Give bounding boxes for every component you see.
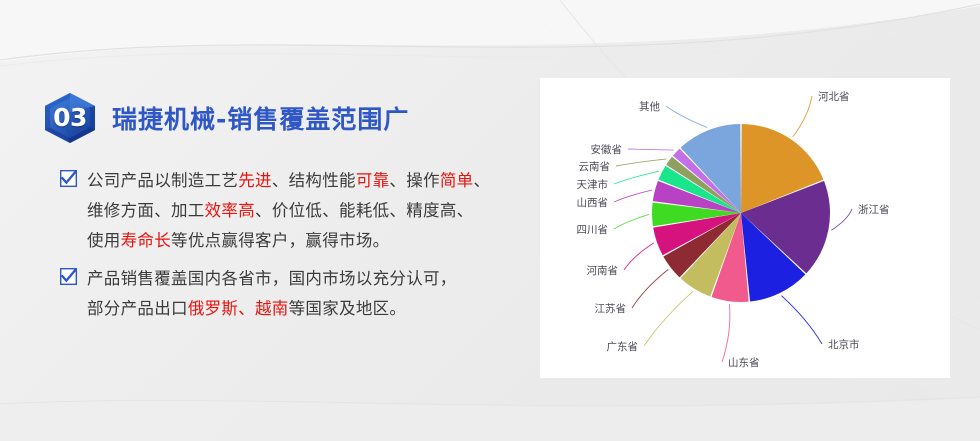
bullet-text-block: 公司产品以制造工艺先进、结构性能可靠、操作简单、 维修方面、加工效率高、价位低、… (87, 166, 490, 256)
pie-leader-line (624, 243, 654, 270)
left-content-column: 03 瑞捷机械-销售覆盖范围广 公司产品以制造工艺先进、结构性能可靠、操作简单、… (0, 0, 540, 441)
pie-slice-label: 北京市 (828, 338, 860, 351)
pie-slice-label: 山西省 (577, 196, 609, 209)
check-box-icon (60, 170, 77, 187)
check-box-icon (60, 268, 77, 285)
pie-leader-line (614, 214, 649, 229)
pie-chart-card: 河北省浙江省北京市山东省广东省江苏省河南省四川省山西省天津市云南省安徽省其他 (540, 78, 950, 378)
pie-slice-label: 浙江省 (858, 203, 890, 216)
pie-leader-line (644, 291, 693, 346)
pie-leader-line (614, 190, 652, 202)
pie-leader-line (722, 304, 730, 362)
pie-leader-line (628, 149, 674, 150)
pie-slices-group (652, 124, 830, 302)
bullet-line: 部分产品出口俄罗斯、越南等国家及地区。 (87, 294, 457, 324)
bullet-line: 使用寿命长等优点赢得客户，赢得市场。 (87, 226, 490, 256)
bullet-line: 公司产品以制造工艺先进、结构性能可靠、操作简单、 (87, 166, 490, 196)
pie-leader-line (831, 209, 852, 230)
list-item: 产品销售覆盖国内各省市，国内市场以充分认可， 部分产品出口俄罗斯、越南等国家及地… (60, 264, 540, 324)
slide-canvas: 03 瑞捷机械-销售覆盖范围广 公司产品以制造工艺先进、结构性能可靠、操作简单、… (0, 0, 980, 441)
pie-leader-line (793, 96, 812, 137)
list-item: 公司产品以制造工艺先进、结构性能可靠、操作简单、 维修方面、加工效率高、价位低、… (60, 166, 540, 256)
pie-slice-label: 山东省 (728, 356, 760, 369)
pie-leader-line (781, 296, 822, 344)
section-title-text: 瑞捷机械-销售覆盖范围广 (112, 100, 409, 136)
bullet-line: 产品销售覆盖国内各省市，国内市场以充分认可， (87, 264, 457, 294)
bullet-list: 公司产品以制造工艺先进、结构性能可靠、操作简单、 维修方面、加工效率高、价位低、… (60, 166, 540, 332)
pie-slice-label: 河南省 (587, 264, 619, 277)
pie-leader-line (614, 171, 659, 184)
pie-slice-label: 广东省 (607, 340, 639, 353)
pie-slice-label: 江苏省 (595, 302, 627, 315)
pie-leader-line (632, 269, 668, 308)
section-number-text: 03 (42, 92, 98, 144)
sales-coverage-pie-chart: 河北省浙江省北京市山东省广东省江苏省河南省四川省山西省天津市云南省安徽省其他 (540, 78, 950, 378)
bullet-text-block: 产品销售覆盖国内各省市，国内市场以充分认可， 部分产品出口俄罗斯、越南等国家及地… (87, 264, 457, 324)
pie-slice-label: 云南省 (579, 160, 611, 173)
pie-leader-line (666, 106, 707, 127)
pie-slice-label: 河北省 (818, 90, 850, 103)
section-number-badge: 03 (42, 92, 98, 144)
pie-slice-label: 四川省 (577, 223, 609, 236)
pie-slice-label: 天津市 (577, 178, 609, 191)
pie-slice-label: 其他 (639, 100, 660, 113)
pie-leader-line (616, 159, 667, 166)
bullet-line: 维修方面、加工效率高、价位低、能耗低、精度高、 (87, 196, 490, 226)
section-title-row: 03 瑞捷机械-销售覆盖范围广 (42, 92, 409, 144)
pie-slice-label: 安徽省 (591, 143, 623, 156)
